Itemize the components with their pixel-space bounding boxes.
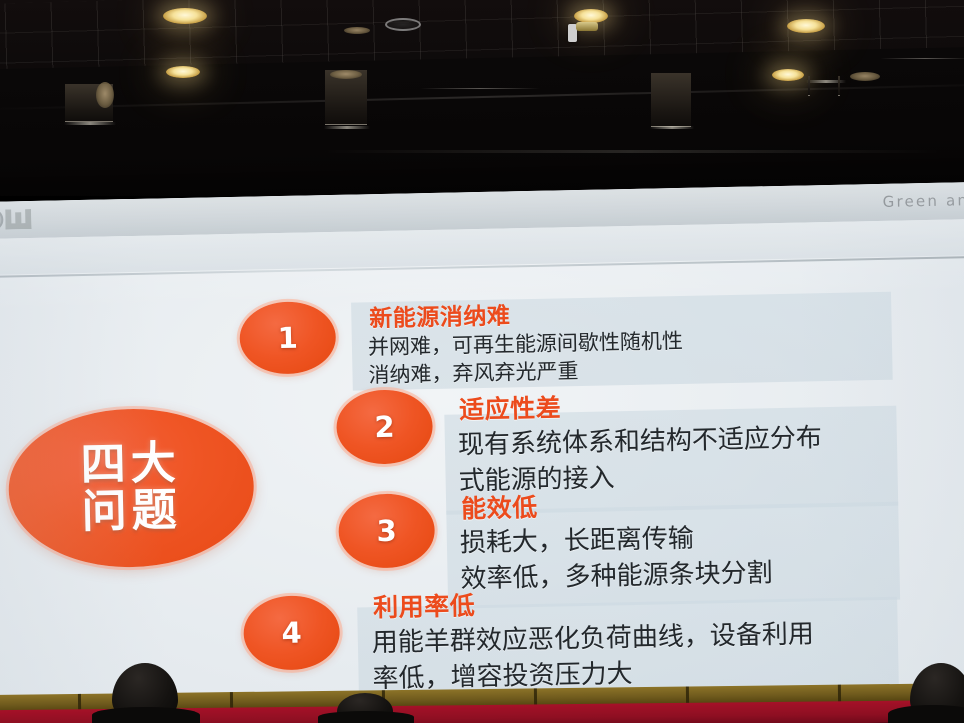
item-1-number-bubble: 1 [239,301,336,375]
ceiling-spotlight [163,8,207,24]
item-3-line-2: 效率低，多种能源条块分割 [460,552,773,595]
ceiling-fixture-edge [324,126,370,129]
item-3-number: 3 [376,514,397,548]
photo-frame: Green an 结 四大 问题 1 新能源消纳难 并网难，可再生能源间歇性随机… [0,0,964,723]
ceiling-wire [880,58,964,59]
header-right-text: Green an [882,191,964,211]
ceiling-rail-post [808,76,810,96]
item-4-title: 利用率低 [373,586,476,624]
brand-logo [0,207,32,232]
ceiling-camera-lens [576,22,598,31]
ceiling-fixture-edge [650,126,694,129]
emblem-line-2: 问题 [81,487,182,536]
item-1-number: 1 [277,321,298,355]
ceiling-fixture [651,73,691,127]
ceiling-rail [806,80,846,83]
ceiling-fixture-edge [64,122,116,125]
audience-shoulder [318,711,414,723]
ceiling-light-ring [385,18,421,31]
item-1-line-2: 消纳难，弃风弃光严重 [368,355,579,389]
projection-screen: Green an 结 四大 问题 1 新能源消纳难 并网难，可再生能源间歇性随机… [0,182,964,714]
ceiling-light-dim [850,72,880,81]
item-2-title: 适应性差 [459,388,562,426]
item-1-title: 新能源消纳难 [369,296,511,333]
ceiling-spotlight [787,19,825,33]
emblem-line-1: 四大 [80,440,181,489]
item-4-number-bubble: 4 [243,595,340,671]
ceiling-shadow-line [320,150,940,153]
item-2-line-1: 现有系统体系和结构不适应分布 [458,417,823,461]
item-2-number-bubble: 2 [336,389,433,465]
ceiling-fixture-glow [96,82,114,108]
ceiling-fixture-glow [330,70,362,79]
item-2-number: 2 [374,410,395,444]
item-3-number-bubble: 3 [338,493,435,569]
four-problems-emblem: 四大 问题 [7,407,255,570]
ceiling-light-dim [344,27,370,34]
ceiling-spotlight [166,66,200,78]
audience-shoulder [92,707,200,723]
ceiling-wire [420,88,540,89]
slide-surface: Green an 结 四大 问题 1 新能源消纳难 并网难，可再生能源间歇性随机… [0,182,964,714]
ceiling-spotlight [574,9,608,23]
ceiling-rail-post [838,76,840,96]
logo-w-mark [5,209,31,230]
ceiling-soffit [0,47,964,196]
item-3-line-1: 损耗大，长距离传输 [459,518,694,560]
item-3-title: 能效低 [461,488,538,526]
ceiling-region [0,0,964,196]
ceiling-spotlight [772,69,804,81]
item-4-number: 4 [281,616,302,650]
lightning-bolt-icon [0,209,4,231]
audience-shoulder [888,705,964,723]
